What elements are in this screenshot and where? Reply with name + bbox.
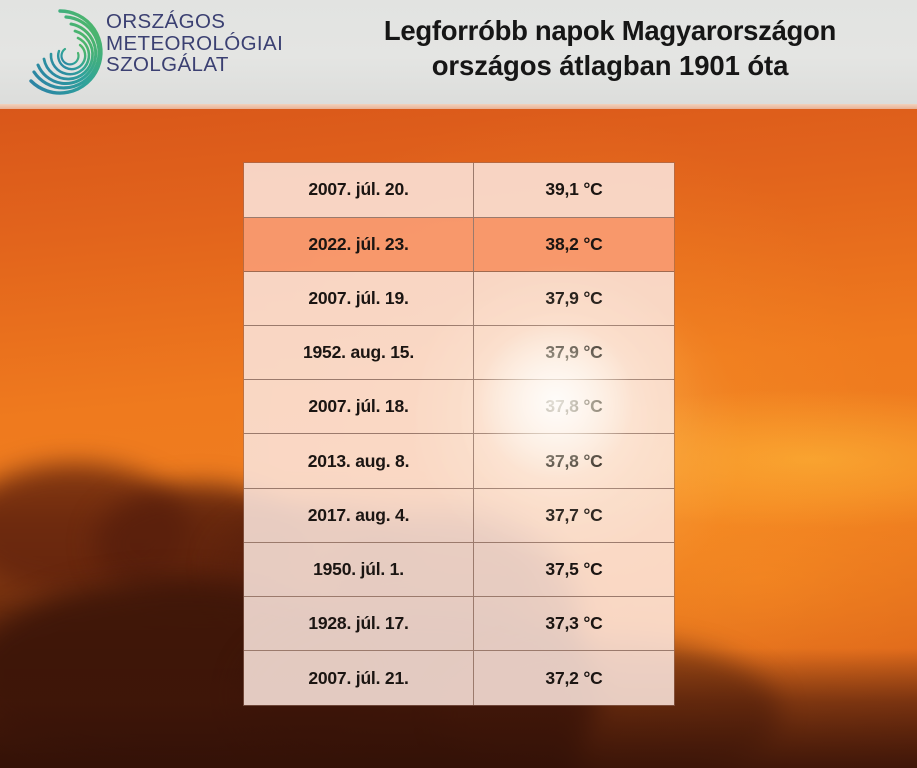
table-row: 2007. júl. 20.39,1 °C bbox=[244, 163, 674, 217]
cell-temperature: 39,1 °C bbox=[474, 163, 675, 217]
table-row: 2013. aug. 8.37,8 °C bbox=[244, 434, 674, 488]
table-row: 2022. júl. 23.38,2 °C bbox=[244, 217, 674, 271]
cell-temperature: 37,9 °C bbox=[474, 271, 675, 325]
table-row: 1950. júl. 1.37,5 °C bbox=[244, 542, 674, 596]
logo-line-3: SZOLGÁLAT bbox=[106, 54, 283, 76]
table-row: 2007. júl. 19.37,9 °C bbox=[244, 271, 674, 325]
cell-date: 2022. júl. 23. bbox=[244, 217, 474, 271]
header-band: ORSZÁGOS METEOROLÓGIAI SZOLGÁLAT Legforr… bbox=[0, 0, 917, 104]
table-row: 2017. aug. 4.37,7 °C bbox=[244, 488, 674, 542]
table-row: 2007. júl. 18.37,8 °C bbox=[244, 380, 674, 434]
cell-date: 2007. júl. 19. bbox=[244, 271, 474, 325]
spiral-swirl-logo-icon bbox=[14, 6, 106, 98]
cell-temperature: 38,2 °C bbox=[474, 217, 675, 271]
infographic-slide: ORSZÁGOS METEOROLÓGIAI SZOLGÁLAT Legforr… bbox=[0, 0, 917, 768]
page-title: Legforróbb napok Magyarországon országos… bbox=[318, 13, 902, 83]
logo-wordmark: ORSZÁGOS METEOROLÓGIAI SZOLGÁLAT bbox=[106, 11, 283, 76]
title-line-1: Legforróbb napok Magyarországon bbox=[318, 13, 902, 48]
cell-temperature: 37,8 °C bbox=[474, 434, 675, 488]
cell-temperature: 37,9 °C bbox=[474, 326, 675, 380]
cell-date: 2013. aug. 8. bbox=[244, 434, 474, 488]
cell-temperature: 37,3 °C bbox=[474, 597, 675, 651]
cell-date: 1950. júl. 1. bbox=[244, 542, 474, 596]
table-row: 1952. aug. 15.37,9 °C bbox=[244, 326, 674, 380]
cell-temperature: 37,7 °C bbox=[474, 488, 675, 542]
cell-temperature: 37,8 °C bbox=[474, 380, 675, 434]
cell-date: 2007. júl. 20. bbox=[244, 163, 474, 217]
cell-date: 2007. júl. 18. bbox=[244, 380, 474, 434]
logo-line-2: METEOROLÓGIAI bbox=[106, 33, 283, 55]
cell-date: 1952. aug. 15. bbox=[244, 326, 474, 380]
table-body: 2007. júl. 20.39,1 °C2022. júl. 23.38,2 … bbox=[244, 163, 674, 705]
hottest-days-table: 2007. júl. 20.39,1 °C2022. júl. 23.38,2 … bbox=[244, 163, 674, 705]
cell-date: 2017. aug. 4. bbox=[244, 488, 474, 542]
cell-temperature: 37,2 °C bbox=[474, 651, 675, 705]
cell-date: 2007. júl. 21. bbox=[244, 651, 474, 705]
table-row: 2007. júl. 21.37,2 °C bbox=[244, 651, 674, 705]
cell-temperature: 37,5 °C bbox=[474, 542, 675, 596]
title-line-2: országos átlagban 1901 óta bbox=[318, 48, 902, 83]
cell-date: 1928. júl. 17. bbox=[244, 597, 474, 651]
table-row: 1928. júl. 17.37,3 °C bbox=[244, 597, 674, 651]
logo-line-1: ORSZÁGOS bbox=[106, 11, 283, 33]
